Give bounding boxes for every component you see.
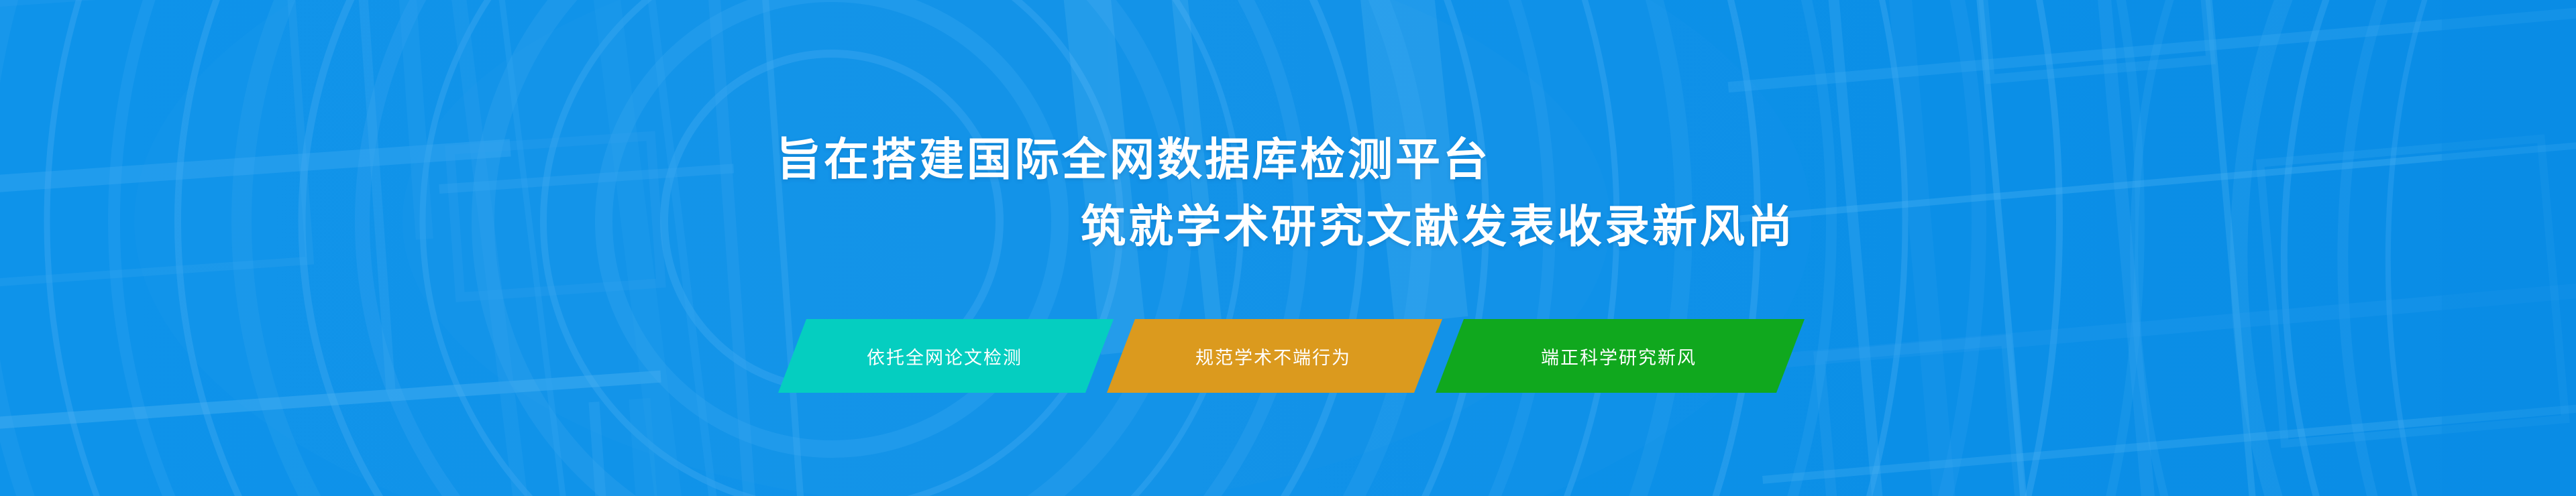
feature-tag-detection[interactable]: 依托全网论文检测: [778, 319, 1114, 393]
feature-tag-misconduct[interactable]: 规范学术不端行为: [1107, 319, 1442, 393]
feature-tag-detection-label: 依托全网论文检测: [867, 343, 1022, 369]
banner-content: 旨在搭建国际全网数据库检测平台 筑就学术研究文献发表收录新风尚 依托全网论文检测…: [0, 0, 2576, 496]
feature-tag-misconduct-label: 规范学术不端行为: [1195, 343, 1351, 369]
promo-banner: 旨在搭建国际全网数据库检测平台 筑就学术研究文献发表收录新风尚 依托全网论文检测…: [0, 0, 2576, 496]
headline-line-1: 旨在搭建国际全网数据库检测平台: [776, 137, 1491, 182]
feature-tag-integrity[interactable]: 端正科学研究新风: [1436, 319, 1805, 393]
feature-tag-integrity-label: 端正科学研究新风: [1541, 343, 1697, 369]
headline-line-2: 筑就学术研究文献发表收录新风尚: [1081, 204, 1795, 249]
feature-tag-bar: 依托全网论文检测 规范学术不端行为 端正科学研究新风: [778, 319, 1805, 393]
